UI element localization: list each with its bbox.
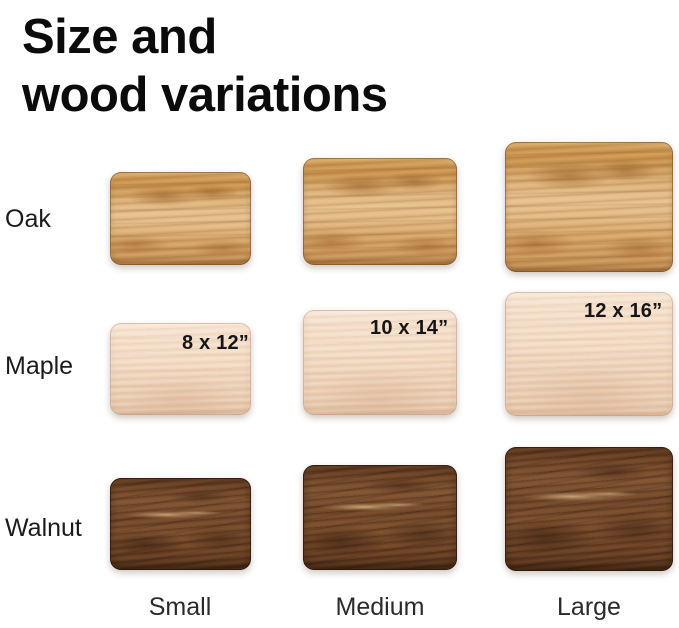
board-walnut-small[interactable] [110, 478, 251, 570]
board-comparison-grid: Oak Maple Walnut Small Medium Large 8 x … [0, 0, 679, 628]
wood-grain-texture [110, 478, 251, 570]
row-label-walnut: Walnut [5, 516, 82, 541]
wood-grain-texture [505, 142, 673, 272]
row-label-maple: Maple [5, 354, 73, 379]
board-oak-large[interactable] [505, 142, 673, 272]
wood-grain-texture [303, 158, 457, 265]
board-oak-medium[interactable] [303, 158, 457, 265]
board-oak-small[interactable] [110, 172, 251, 265]
column-label-medium: Medium [303, 595, 457, 620]
column-label-small: Small [110, 595, 250, 620]
wood-grain-texture [110, 172, 251, 265]
column-label-large: Large [505, 595, 673, 620]
board-walnut-large[interactable] [505, 447, 673, 571]
size-caption-small: 8 x 12” [182, 332, 249, 355]
wood-grain-texture [303, 465, 457, 570]
size-caption-medium: 10 x 14” [370, 317, 448, 340]
row-label-oak: Oak [5, 207, 51, 232]
size-caption-large: 12 x 16” [584, 300, 662, 323]
wood-grain-texture [505, 447, 673, 571]
board-walnut-medium[interactable] [303, 465, 457, 570]
